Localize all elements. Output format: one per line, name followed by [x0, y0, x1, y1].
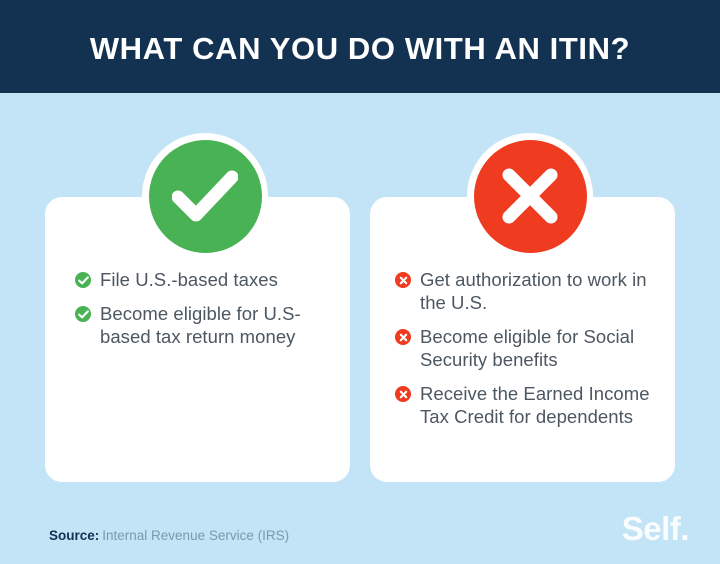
page-title: WHAT CAN YOU DO WITH AN ITIN?: [90, 33, 630, 64]
cross-icon: [501, 167, 559, 225]
badge-can-do: [149, 140, 262, 253]
check-circle-icon: [75, 272, 91, 288]
list-item: Become eligible for Social Security bene…: [395, 325, 655, 371]
check-circle-icon: [75, 306, 91, 322]
x-circle-icon: [395, 329, 411, 345]
list-item-label: Receive the Earned Income Tax Credit for…: [420, 382, 655, 428]
header-band: WHAT CAN YOU DO WITH AN ITIN?: [0, 0, 720, 93]
list-item: Get authorization to work in the U.S.: [395, 268, 655, 314]
checkmark-icon: [172, 170, 238, 222]
list-item: Receive the Earned Income Tax Credit for…: [395, 382, 655, 428]
list-item-label: Get authorization to work in the U.S.: [420, 268, 655, 314]
list-can-do: File U.S.-based taxes Become eligible fo…: [75, 268, 335, 359]
brand-logo: Self.: [622, 512, 689, 545]
badge-can-do-halo: [142, 133, 268, 259]
source-line: Source:Internal Revenue Service (IRS): [49, 528, 289, 543]
list-cannot-do: Get authorization to work in the U.S. Be…: [395, 268, 655, 439]
source-label: Source:: [49, 528, 99, 543]
cards-area: File U.S.-based taxes Become eligible fo…: [0, 93, 720, 499]
x-circle-icon: [395, 272, 411, 288]
list-item-label: Become eligible for U.S-based tax return…: [100, 302, 335, 348]
source-value: Internal Revenue Service (IRS): [102, 528, 289, 543]
list-item: Become eligible for U.S-based tax return…: [75, 302, 335, 348]
list-item: File U.S.-based taxes: [75, 268, 335, 291]
list-item-label: Become eligible for Social Security bene…: [420, 325, 655, 371]
badge-cannot-do: [474, 140, 587, 253]
list-item-label: File U.S.-based taxes: [100, 268, 278, 291]
infographic-root: WHAT CAN YOU DO WITH AN ITIN?: [0, 0, 720, 564]
badge-cannot-do-halo: [467, 133, 593, 259]
footer: Source:Internal Revenue Service (IRS) Se…: [0, 499, 720, 564]
x-circle-icon: [395, 386, 411, 402]
